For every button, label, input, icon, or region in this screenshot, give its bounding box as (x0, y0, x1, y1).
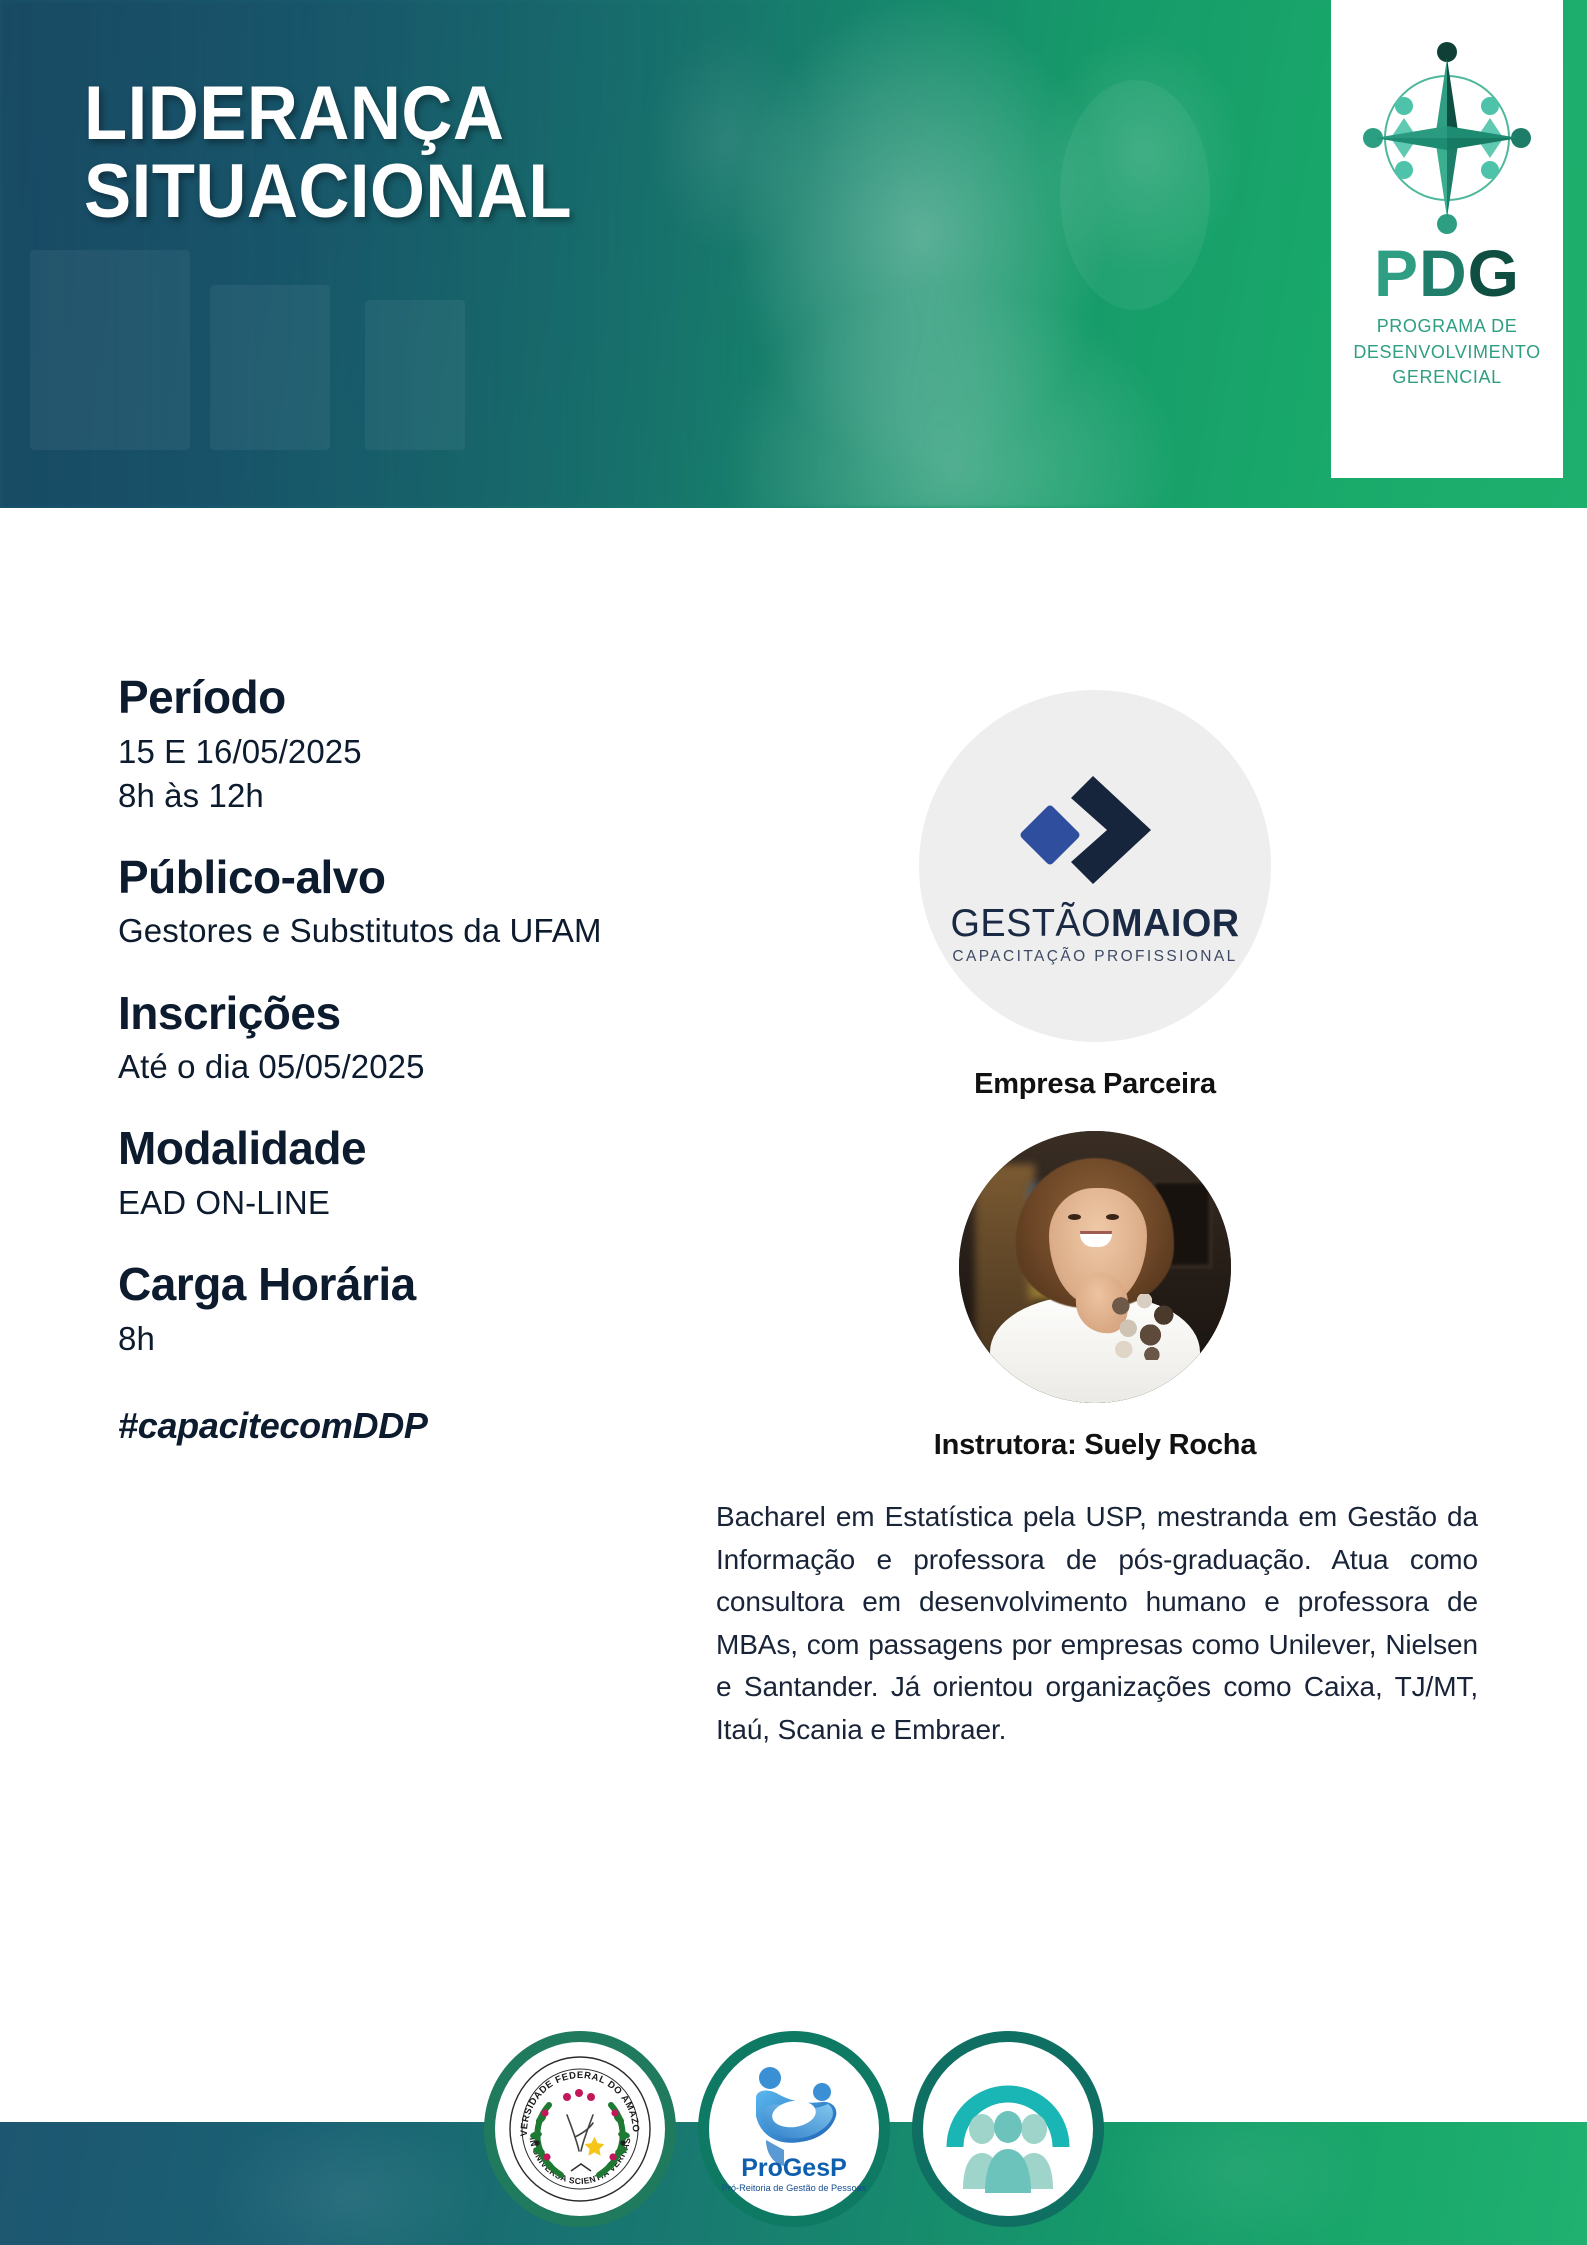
partner-wordmark-part2: MAIOR (1111, 902, 1240, 945)
avatar-necklace (1106, 1294, 1180, 1360)
people-group-icon (935, 2055, 1081, 2203)
ufam-seal-logo: UNIVERSIDADE FEDERAL DO AMAZONAS IN UNIV… (484, 2031, 676, 2227)
field-label: Público-alvo (118, 852, 758, 904)
pdg-logo-panel: PDG PROGRAMA DE DESENVOLVIMENTO GERENCIA… (1331, 0, 1563, 478)
pdg-letter-g: G (1468, 236, 1520, 310)
partner-wordmark-part1: GESTÃO (950, 902, 1111, 945)
field-value: 15 E 16/05/2025 8h às 12h (118, 730, 758, 818)
field-value: EAD ON-LINE (118, 1181, 758, 1225)
page-title: LIDERANÇA SITUACIONAL (84, 75, 572, 230)
pdg-subtitle: PROGRAMA DE DESENVOLVIMENTO GERENCIAL (1353, 314, 1540, 391)
pdg-letter-p: P (1374, 236, 1419, 310)
partner-and-instructor-column: GESTÃOMAIOR CAPACITAÇÃO PROFISSIONAL Emp… (700, 690, 1490, 1751)
field-value: Gestores e Substitutos da UFAM (118, 909, 758, 953)
hashtag: #capacitecomDDP (118, 1405, 758, 1447)
field-periodo: Período 15 E 16/05/2025 8h às 12h (118, 672, 758, 818)
instructor-bio: Bacharel em Estatística pela USP, mestra… (700, 1496, 1490, 1751)
field-publico-alvo: Público-alvo Gestores e Substitutos da U… (118, 852, 758, 954)
instructor-avatar (959, 1131, 1231, 1403)
poster-header: LIDERANÇA SITUACIONAL (0, 0, 1587, 508)
field-label: Inscrições (118, 988, 758, 1040)
pdg-letter-d: D (1419, 236, 1468, 310)
field-label: Carga Horária (118, 1259, 758, 1311)
partner-logo: GESTÃOMAIOR CAPACITAÇÃO PROFISSIONAL (919, 690, 1271, 1042)
svg-text:Pró-Reitoria de Gestão de Pess: Pró-Reitoria de Gestão de Pessoas (722, 2183, 866, 2193)
partner-tagline: CAPACITAÇÃO PROFISSIONAL (952, 948, 1237, 966)
field-value: Até o dia 05/05/2025 (118, 1045, 758, 1089)
gestao-maior-chevron-icon (1005, 766, 1185, 896)
field-carga-horaria: Carga Horária 8h (118, 1259, 758, 1361)
avatar-eye-left (1068, 1214, 1081, 1220)
pdg-wordmark: PDG (1374, 240, 1520, 306)
progesp-logo: ProGesP Pró-Reitoria de Gestão de Pessoa… (698, 2031, 890, 2227)
field-value: 8h (118, 1317, 758, 1361)
progesp-icon: ProGesP Pró-Reitoria de Gestão de Pessoa… (722, 2054, 866, 2204)
field-modalidade: Modalidade EAD ON-LINE (118, 1123, 758, 1225)
avatar-eye-right (1106, 1214, 1119, 1220)
field-label: Período (118, 672, 758, 724)
field-label: Modalidade (118, 1123, 758, 1175)
partner-wordmark: GESTÃOMAIOR (950, 904, 1239, 943)
instructor-caption: Instrutora: Suely Rocha (700, 1429, 1490, 1462)
field-inscricoes: Inscrições Até o dia 05/05/2025 (118, 988, 758, 1090)
svg-text:ProGesP: ProGesP (741, 2154, 847, 2182)
ufam-seal-icon: UNIVERSIDADE FEDERAL DO AMAZONAS IN UNIV… (505, 2053, 655, 2205)
details-column: Período 15 E 16/05/2025 8h às 12h Públic… (118, 672, 758, 1447)
partner-caption: Empresa Parceira (700, 1068, 1490, 1101)
title-block: LIDERANÇA SITUACIONAL (84, 75, 609, 230)
pdg-compass-star-logo (1363, 38, 1531, 238)
ddp-people-logo (912, 2031, 1104, 2227)
footer-logos: UNIVERSIDADE FEDERAL DO AMAZONAS IN UNIV… (0, 2031, 1587, 2227)
